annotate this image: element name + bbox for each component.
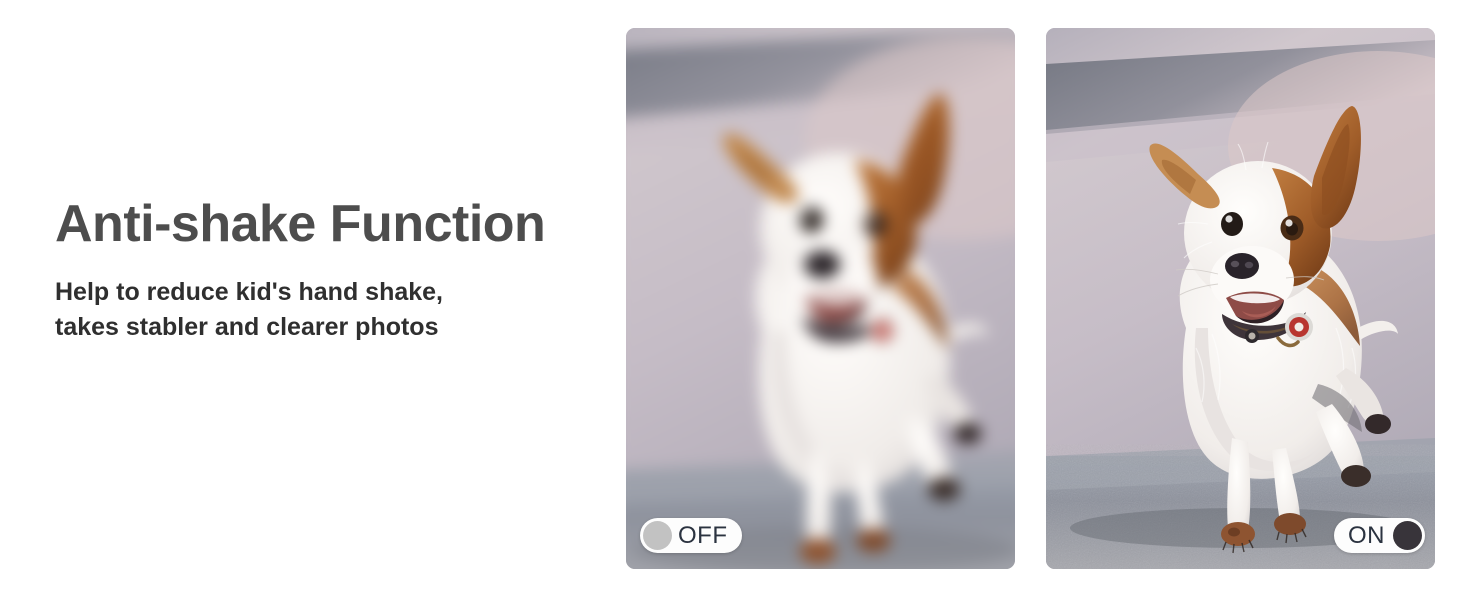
toggle-state-label: ON: [1348, 524, 1385, 548]
anti-shake-banner: Anti-shake Function Help to reduce kid's…: [0, 0, 1464, 600]
copy-block: Anti-shake Function Help to reduce kid's…: [55, 196, 615, 344]
photo-panel-anti-shake-on: ON: [1046, 28, 1435, 569]
page-title: Anti-shake Function: [55, 196, 615, 253]
blurred-dog-photo: [626, 28, 1015, 569]
photo-panel-anti-shake-off: OFF: [626, 28, 1015, 569]
toggle-anti-shake-on[interactable]: ON: [1334, 518, 1425, 553]
subtitle-line-2: takes stabler and clearer photos: [55, 310, 615, 345]
subtitle: Help to reduce kid's hand shake, takes s…: [55, 275, 615, 344]
toggle-knob-icon: [1393, 521, 1422, 550]
sharp-dog-photo: [1046, 28, 1435, 569]
toggle-state-label: OFF: [678, 524, 728, 548]
toggle-knob-icon: [643, 521, 672, 550]
subtitle-line-1: Help to reduce kid's hand shake,: [55, 275, 615, 310]
toggle-anti-shake-off[interactable]: OFF: [640, 518, 742, 553]
